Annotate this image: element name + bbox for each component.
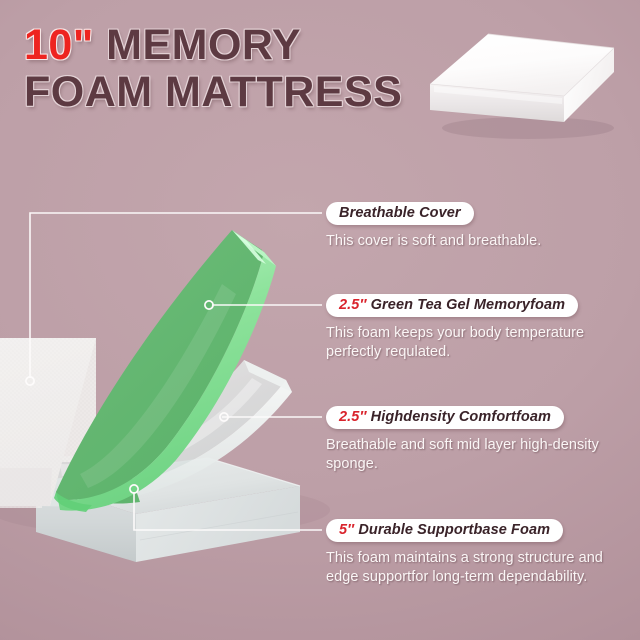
callout-measure-green-tea-gel: 2.5″: [339, 297, 367, 313]
callout-name-comfortfoam: Highdensity Comfortfoam: [371, 409, 551, 425]
callout-measure-supportbase: 5″: [339, 522, 354, 538]
callout-description-comfortfoam: Breathable and soft mid layer high-densi…: [326, 436, 626, 474]
callout-green-tea-gel: 2.5″ Green Tea Gel Memoryfoam This foam …: [326, 294, 626, 362]
callout-name-supportbase: Durable Supportbase Foam: [358, 522, 550, 538]
product-photo: [424, 24, 624, 142]
callout-label-supportbase[interactable]: 5″ Durable Supportbase Foam: [326, 519, 563, 542]
title-line-1-rest: MEMORY: [94, 21, 301, 69]
page-title: 10" MEMORY FOAM MATTRESS: [24, 22, 444, 116]
callout-name-green-tea-gel: Green Tea Gel Memoryfoam: [371, 297, 565, 313]
title-line-1: 10" MEMORY: [24, 22, 444, 69]
callout-label-cover[interactable]: Breathable Cover: [326, 202, 474, 225]
title-line-2: FOAM MATTRESS: [24, 69, 444, 116]
title-thickness-measure: 10": [24, 21, 94, 69]
callout-description-cover: This cover is soft and breathable.: [326, 232, 626, 251]
mattress-cutaway-illustration: [0, 210, 340, 600]
callout-measure-comfortfoam: 2.5″: [339, 409, 367, 425]
callout-cover: Breathable Cover This cover is soft and …: [326, 202, 626, 251]
callout-description-green-tea-gel: This foam keeps your body temperature pe…: [326, 324, 626, 362]
callout-label-comfortfoam[interactable]: 2.5″ Highdensity Comfortfoam: [326, 406, 564, 429]
infographic-canvas: 10" MEMORY FOAM MATTRESS: [0, 0, 640, 640]
callout-comfortfoam: 2.5″ Highdensity Comfortfoam Breathable …: [326, 406, 626, 474]
callout-name-cover: Breathable Cover: [339, 205, 461, 221]
callout-description-supportbase: This foam maintains a strong structure a…: [326, 549, 626, 587]
callout-supportbase: 5″ Durable Supportbase Foam This foam ma…: [326, 519, 626, 587]
callout-label-green-tea-gel[interactable]: 2.5″ Green Tea Gel Memoryfoam: [326, 294, 578, 317]
